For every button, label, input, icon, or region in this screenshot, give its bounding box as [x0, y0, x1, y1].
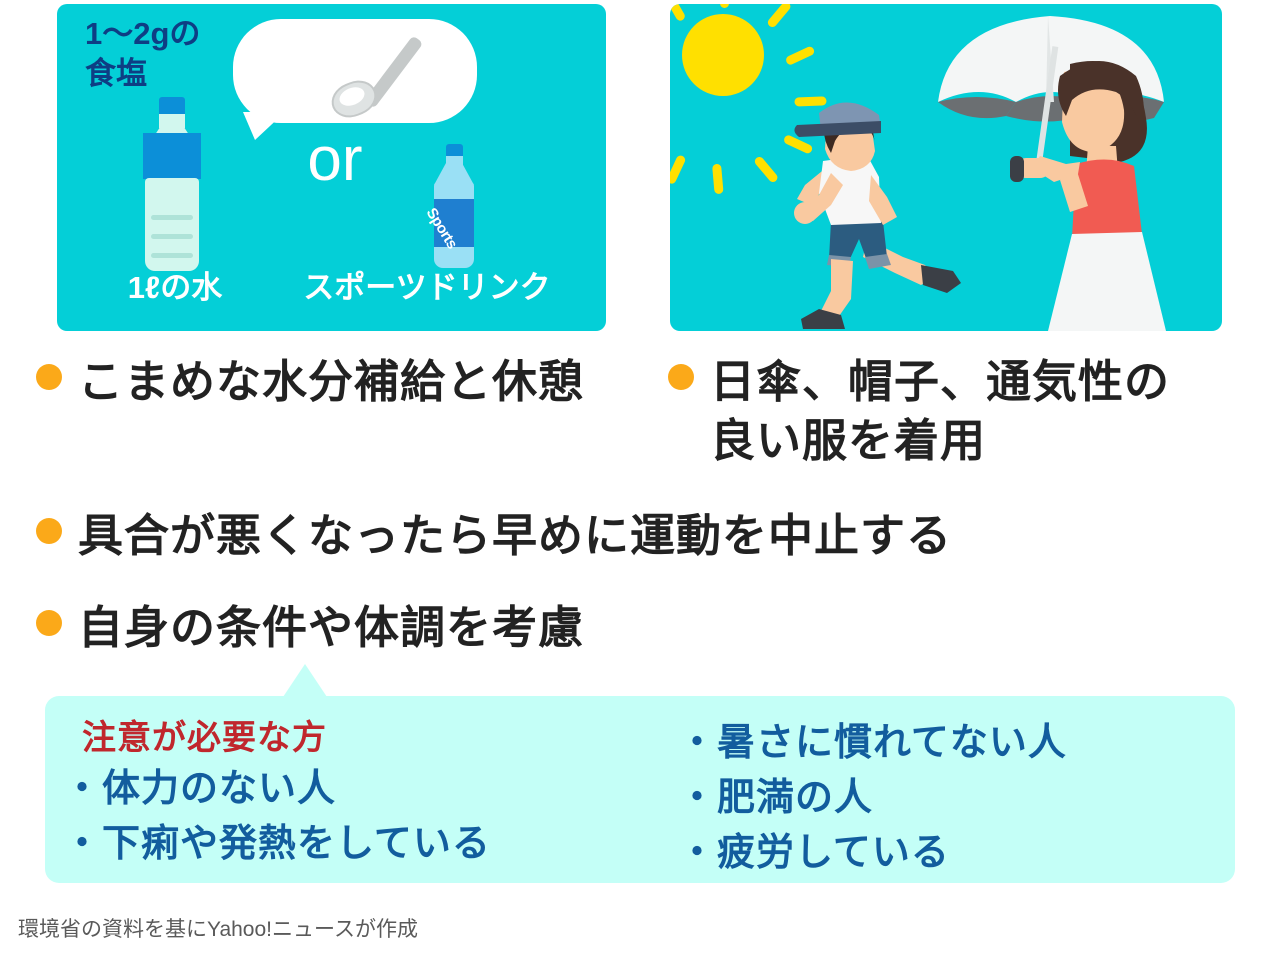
bullet-label: 具合が悪くなったら早めに運動を中止する	[78, 506, 952, 565]
caution-list-item: ・疲労している	[678, 826, 1067, 881]
bottle-ridge-1	[151, 215, 193, 220]
bullet-item-self-condition: 自身の条件や体調を考慮	[36, 598, 1036, 657]
caution-panel-tail	[281, 664, 329, 700]
or-label: or	[275, 129, 395, 191]
bullet-dot-icon	[36, 364, 62, 390]
woman-with-parasol-icon	[920, 6, 1220, 331]
sports-drink-bottle-icon: Sports	[429, 144, 479, 269]
bullet-dot-icon	[36, 610, 62, 636]
bullet-item-stop-exercise: 具合が悪くなったら早めに運動を中止する	[36, 506, 1036, 565]
bottle-label-wrap	[143, 133, 201, 179]
caution-list-item: ・暑さに慣れてない人	[678, 716, 1067, 771]
caution-list-item: ・下痢や発熱をしている	[63, 817, 491, 872]
caution-list-right: ・暑さに慣れてない人 ・肥満の人 ・疲労している	[678, 716, 1067, 881]
sun-ray	[766, 4, 792, 29]
sun-ray	[670, 4, 686, 22]
caution-list-item: ・肥満の人	[678, 771, 1067, 826]
caution-title: 注意が必要な方	[82, 710, 327, 759]
hydration-illustration-panel: Sports 1〜2gの 食塩 or 1ℓの水 スポーツドリンク	[57, 4, 606, 331]
sports-bottle-label: Sports	[434, 199, 474, 247]
outdoor-heat-illustration-panel	[670, 4, 1222, 331]
bottle-ridge-2	[151, 234, 193, 239]
caution-list-left: ・体力のない人 ・下痢や発熱をしている	[63, 762, 491, 872]
sun-ray	[720, 4, 729, 8]
caution-list-item: ・体力のない人	[63, 762, 491, 817]
bullet-label: 日傘、帽子、通気性の 良い服を着用	[710, 352, 1170, 471]
sun-ray	[670, 154, 687, 185]
source-credit: 環境省の資料を基にYahoo!ニュースが作成	[18, 913, 418, 943]
sun-ray	[785, 45, 816, 66]
caption-sports-drink: スポーツドリンク	[277, 262, 577, 307]
bullet-item-clothing: 日傘、帽子、通気性の 良い服を着用	[668, 352, 1228, 471]
sun-icon	[682, 14, 764, 96]
water-bottle-icon	[137, 97, 207, 272]
bullet-item-hydration: こまめな水分補給と休憩	[36, 352, 636, 411]
bullet-dot-icon	[36, 518, 62, 544]
bullet-label: 自身の条件や体調を考慮	[78, 598, 584, 657]
caption-water: 1ℓの水	[105, 262, 245, 307]
sun-ray	[712, 164, 724, 195]
bullet-label: こまめな水分補給と休憩	[78, 352, 584, 411]
bottle-ridge-3	[151, 253, 193, 258]
bullet-dot-icon	[668, 364, 694, 390]
salt-amount-text: 1〜2gの 食塩	[85, 14, 205, 93]
sports-bottle-label-text: Sports	[423, 205, 461, 252]
